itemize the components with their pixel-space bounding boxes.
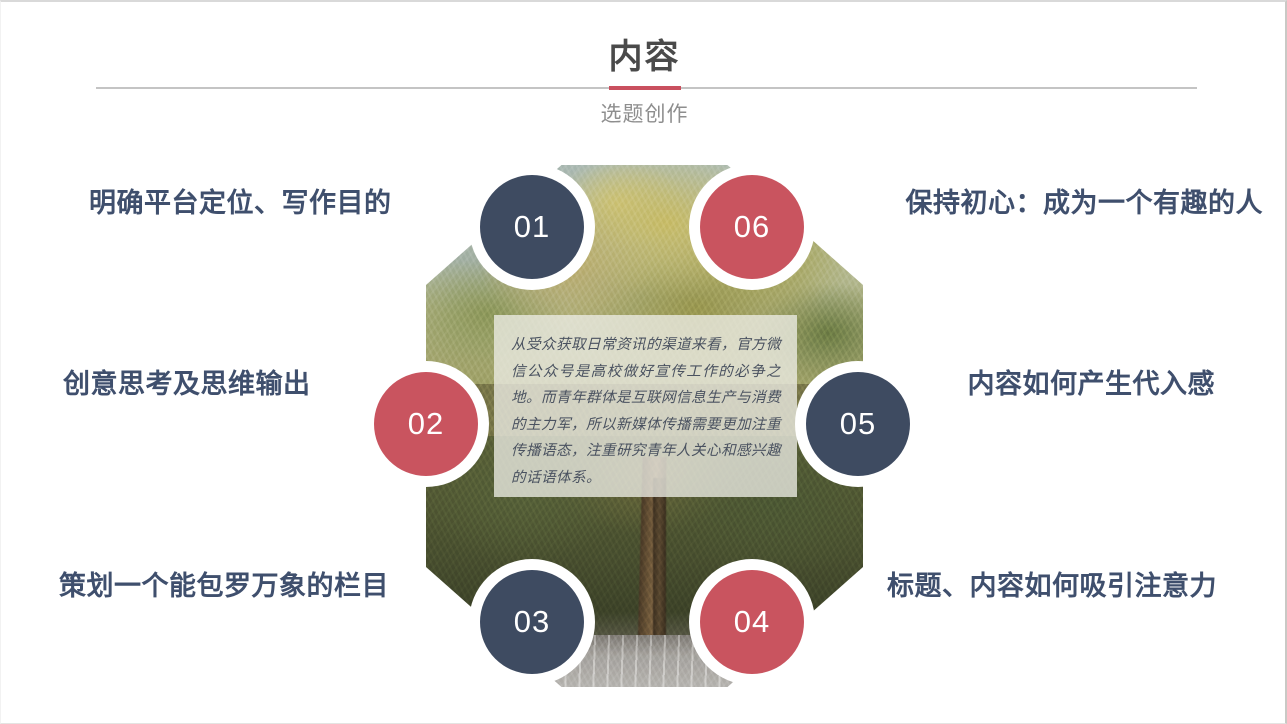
step-label-05: 内容如何产生代入感 [968,367,1216,401]
step-number-04: 04 [734,604,770,640]
page-subtitle: 选题创作 [1,98,1287,128]
step-badge-04[interactable]: 04 [700,570,804,674]
step-number-05: 05 [840,406,876,442]
step-label-03: 策划一个能包罗万象的栏目 [59,569,389,603]
step-number-06: 06 [734,209,770,245]
step-number-02: 02 [408,406,444,442]
slide-header: 内容 选题创作 [1,2,1287,142]
step-badge-05[interactable]: 05 [806,372,910,476]
step-badge-02[interactable]: 02 [374,372,478,476]
step-label-04: 标题、内容如何吸引注意力 [887,569,1217,603]
step-badge-06[interactable]: 06 [700,175,804,279]
step-badge-01[interactable]: 01 [480,175,584,279]
step-label-01: 明确平台定位、写作目的 [89,186,392,220]
center-caption-panel: 从受众获取日常资讯的渠道来看，官方微信公众号是高校做好宣传工作的必争之地。而青年… [494,315,797,497]
step-badge-03[interactable]: 03 [480,570,584,674]
slide-canvas: 内容 选题创作 从受众获取日常资讯的渠道来看，官方微信公众号是高校做好宣传工作的… [0,0,1287,724]
step-label-06: 保持初心：成为一个有趣的人 [906,186,1264,220]
step-number-03: 03 [514,604,550,640]
page-title: 内容 [1,36,1287,78]
step-label-02: 创意思考及思维输出 [63,367,311,401]
header-accent-bar [609,86,681,90]
step-number-01: 01 [514,209,550,245]
